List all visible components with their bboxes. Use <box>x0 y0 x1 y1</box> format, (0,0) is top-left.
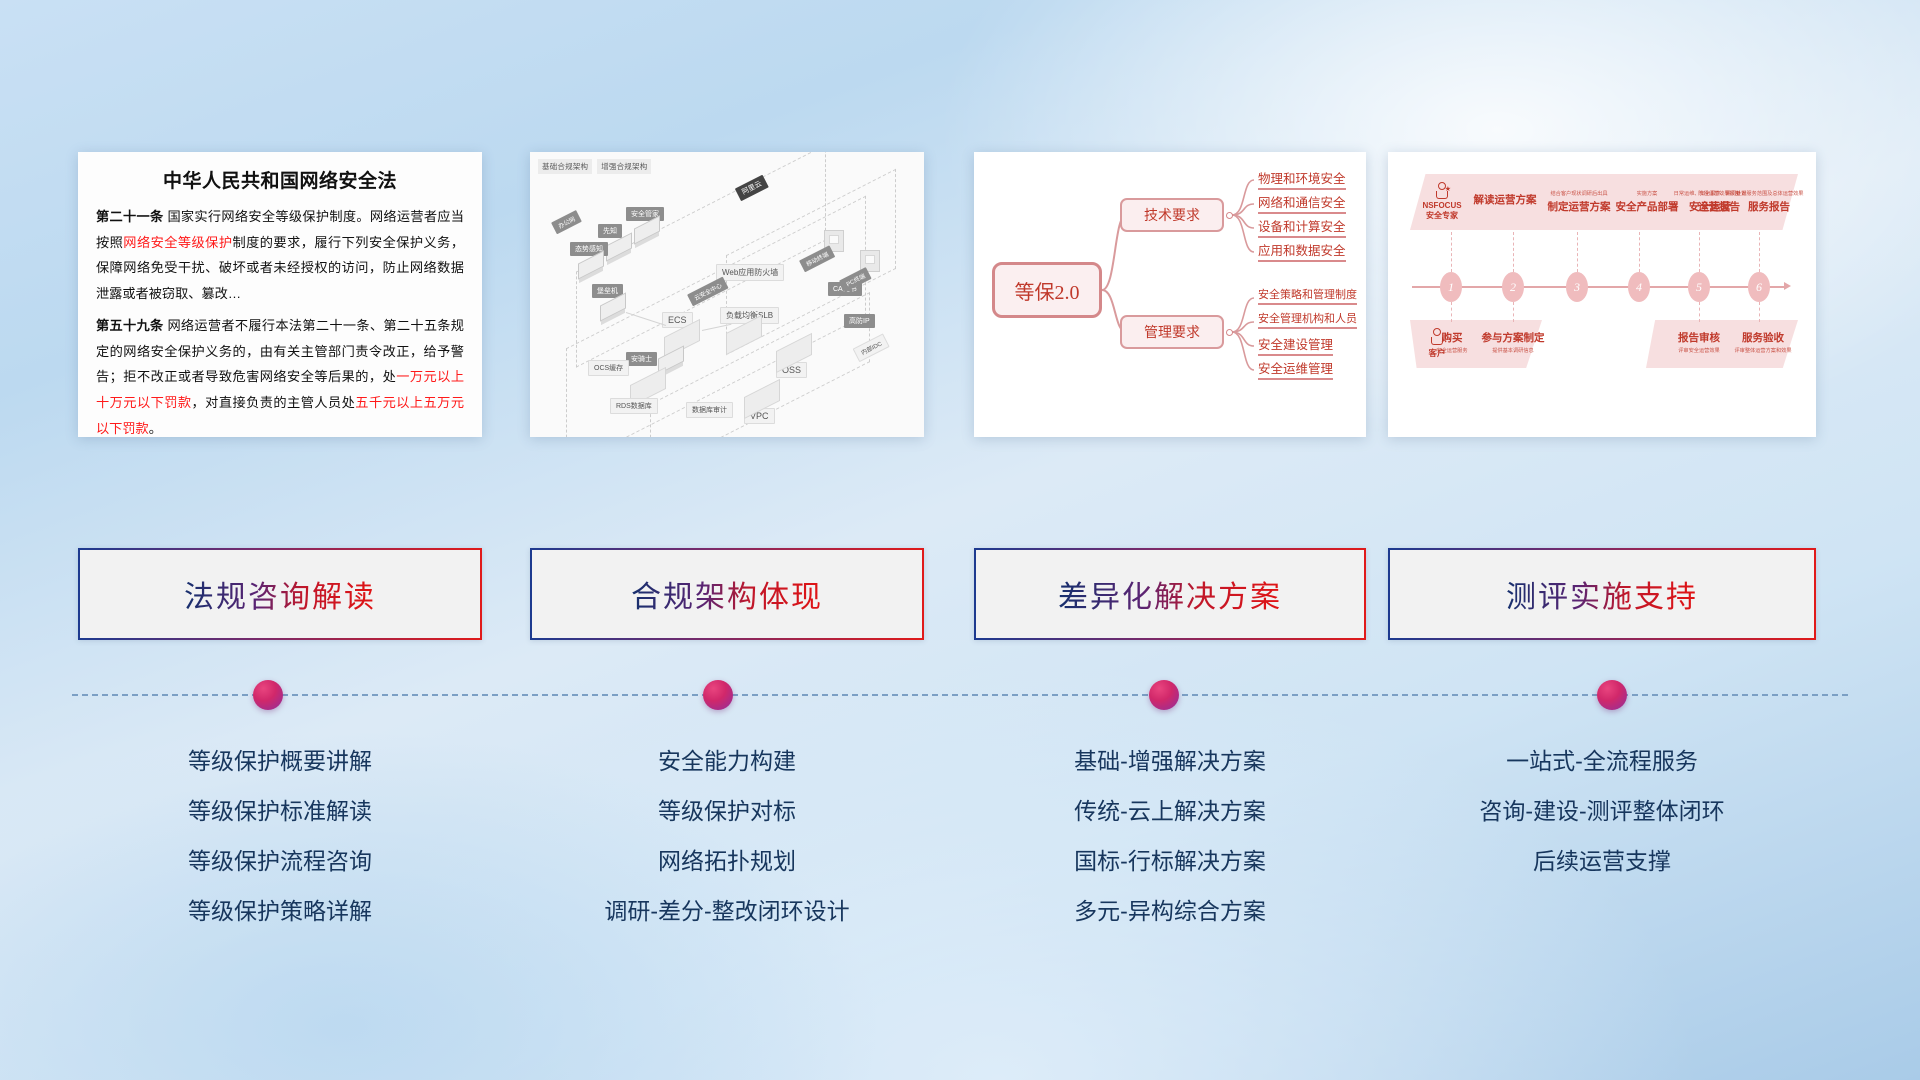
banner-regulation-consulting[interactable]: 法规咨询解读 <box>78 548 482 640</box>
banner-compliance-architecture-label: 合规架构体现 <box>631 572 823 616</box>
timeline-node-5[interactable]: 5 <box>1688 272 1710 302</box>
list-item: 基础-增强解决方案 <box>974 736 1366 786</box>
timeline-customer-step-4-title: 服务验收 <box>1728 330 1798 345</box>
bullet-column-3: 基础-增强解决方案 传统-云上解决方案 国标-行标解决方案 多元-异构综合方案 <box>974 736 1366 936</box>
mindmap-canvas: 等保2.0 技术要求 管理要求 物理和环境安全 网络和通信安全 设备和计算安全 … <box>974 152 1366 437</box>
law-article-21: 第二十一条 国家实行网络安全等级保护制度。网络运营者应当按照网络安全等级保护制度… <box>96 204 464 307</box>
node-waf: Web应用防火墙 <box>716 264 784 281</box>
node-rds: RDS数据库 <box>610 398 658 414</box>
banner-evaluation-support[interactable]: 测评实施支持 <box>1388 548 1816 640</box>
timeline-connector-c1 <box>1451 302 1452 322</box>
timeline-connector-c2 <box>1513 302 1514 322</box>
timeline-connector-3 <box>1577 232 1578 272</box>
actor-nsfocus-expert: ★ NSFOCUS 安全专家 <box>1418 182 1466 221</box>
timeline-connector-5 <box>1699 232 1700 272</box>
law-article-21-highlight: 网络安全等级保护 <box>123 235 232 250</box>
slide-root: 中华人民共和国网络安全法 第二十一条 国家实行网络安全等级保护制度。网络运营者应… <box>0 0 1920 1080</box>
mindmap-leaf-ops-mgmt: 安全运维管理 <box>1258 358 1333 380</box>
timeline-step-1-title: 解读运营方案 <box>1466 192 1544 207</box>
mindmap-leaf-construction-mgmt: 安全建设管理 <box>1258 334 1333 356</box>
timeline-customer-step-4-sub: 评审整体运营方案和效果 <box>1728 347 1798 354</box>
timeline-customer-step-1: 购买 安全运营服务 <box>1430 330 1474 354</box>
banner-differentiated-solution-label: 差异化解决方案 <box>1058 572 1282 616</box>
expert-label-brand: NSFOCUS <box>1418 201 1466 210</box>
timeline-node-6[interactable]: 6 <box>1748 272 1770 302</box>
mindmap-leaf-app-data: 应用和数据安全 <box>1258 240 1346 262</box>
timeline-node-3[interactable]: 3 <box>1566 272 1588 302</box>
law-article-59-label: 第五十九条 <box>96 318 163 333</box>
list-item: 等级保护流程咨询 <box>78 836 482 886</box>
expert-label-role: 安全专家 <box>1418 210 1466 221</box>
bullet-column-2: 安全能力构建 等级保护对标 网络拓扑规划 调研-差分-整改闭环设计 <box>530 736 924 936</box>
node-xianzhi: 先知 <box>598 224 622 238</box>
banner-evaluation-support-label: 测评实施支持 <box>1506 572 1698 616</box>
card-architecture-diagram: 基础合规架构 增强合规架构 阿里云 安全管家 先知 态势感知 堡垒机 ECS <box>530 152 924 437</box>
list-item: 咨询-建设-测评整体闭环 <box>1388 786 1816 836</box>
timeline-customer-step-3-title: 报告审核 <box>1666 330 1732 345</box>
mindmap-dot-technical[interactable] <box>1226 212 1233 219</box>
timeline-customer-step-3: 报告审核 评审安全运营效果 <box>1666 330 1732 354</box>
node-office-network: 办公网 <box>551 210 582 234</box>
timeline-node-2[interactable]: 2 <box>1502 272 1524 302</box>
timeline-step-6-sub: 针对服务范围及总体运营效果 <box>1736 190 1802 197</box>
node-anqishi: 安骑士 <box>626 352 657 366</box>
banner-regulation-consulting-label: 法规咨询解读 <box>184 572 376 616</box>
list-item: 等级保护对标 <box>530 786 924 836</box>
mindmap-leaf-policy-system: 安全策略和管理制度 <box>1258 286 1357 305</box>
timeline-customer-step-3-sub: 评审安全运营效果 <box>1666 347 1732 354</box>
list-item: 后续运营支撑 <box>1388 836 1816 886</box>
timeline-connector-1 <box>1451 232 1452 272</box>
mindmap-leaf-physical-env: 物理和环境安全 <box>1258 168 1346 190</box>
list-item: 等级保护标准解读 <box>78 786 482 836</box>
tab-basic-compliance[interactable]: 基础合规架构 <box>538 159 592 174</box>
timeline-connector-6 <box>1759 232 1760 272</box>
timeline-node-1[interactable]: 1 <box>1440 272 1462 302</box>
timeline-node-4[interactable]: 4 <box>1628 272 1650 302</box>
list-item: 调研-差分-整改闭环设计 <box>530 886 924 936</box>
list-item: 传统-云上解决方案 <box>974 786 1366 836</box>
card-law-text: 中华人民共和国网络安全法 第二十一条 国家实行网络安全等级保护制度。网络运营者应… <box>78 152 482 437</box>
rail-dot-3[interactable] <box>1149 680 1179 710</box>
timeline-step-6-title: 服务报告 <box>1736 199 1802 214</box>
architecture-canvas: 基础合规架构 增强合规架构 阿里云 安全管家 先知 态势感知 堡垒机 ECS <box>530 152 924 437</box>
rail-dot-1[interactable] <box>253 680 283 710</box>
mindmap-branch-management: 管理要求 <box>1120 315 1224 349</box>
timeline-connector-c3 <box>1699 302 1700 322</box>
node-anti-ddos-ip: 高防IP <box>844 314 875 328</box>
timeline-axis <box>1412 286 1786 288</box>
timeline-connector-c4 <box>1759 302 1760 322</box>
banner-compliance-architecture[interactable]: 合规架构体现 <box>530 548 924 640</box>
law-article-59-text-b: ，对直接负责的主管人员处 <box>192 395 356 410</box>
law-article-59: 第五十九条 网络运营者不履行本法第二十一条、第二十五条规定的网络安全保护义务的，… <box>96 313 464 437</box>
mindmap-leaf-network-comm: 网络和通信安全 <box>1258 192 1346 214</box>
architecture-tab-group: 基础合规架构 增强合规架构 <box>538 159 651 174</box>
banner-differentiated-solution[interactable]: 差异化解决方案 <box>974 548 1366 640</box>
expert-person-icon: ★ <box>1434 182 1450 200</box>
timeline-axis-arrow-icon <box>1784 282 1791 290</box>
node-ocs-cache: OCS缓存 <box>588 360 629 376</box>
list-item: 一站式-全流程服务 <box>1388 736 1816 786</box>
list-item: 等级保护策略详解 <box>78 886 482 936</box>
timeline-customer-step-4: 服务验收 评审整体运营方案和效果 <box>1728 330 1798 354</box>
timeline-customer-step-2: 参与方案制定 提供基本调研信息 <box>1476 330 1550 354</box>
list-item: 网络拓扑规划 <box>530 836 924 886</box>
mindmap-branch-technical: 技术要求 <box>1120 198 1224 232</box>
mindmap-leaf-device-compute: 设备和计算安全 <box>1258 216 1346 238</box>
list-item: 多元-异构综合方案 <box>974 886 1366 936</box>
image-card-row: 中华人民共和国网络安全法 第二十一条 国家实行网络安全等级保护制度。网络运营者应… <box>0 152 1920 442</box>
timeline-rail <box>72 694 1848 696</box>
card-mindmap: 等保2.0 技术要求 管理要求 物理和环境安全 网络和通信安全 设备和计算安全 … <box>974 152 1366 437</box>
law-title: 中华人民共和国网络安全法 <box>96 166 464 193</box>
list-item: 等级保护概要讲解 <box>78 736 482 786</box>
law-article-59-text-c: 。 <box>149 421 162 436</box>
bullet-column-1: 等级保护概要讲解 等级保护标准解读 等级保护流程咨询 等级保护策略详解 <box>78 736 482 936</box>
timeline-step-6: 针对服务范围及总体运营效果 服务报告 <box>1736 190 1802 214</box>
law-document: 中华人民共和国网络安全法 第二十一条 国家实行网络安全等级保护制度。网络运营者应… <box>78 152 482 437</box>
law-article-21-label: 第二十一条 <box>96 209 163 224</box>
bullet-column-4: 一站式-全流程服务 咨询-建设-测评整体闭环 后续运营支撑 <box>1388 736 1816 886</box>
rail-dot-4[interactable] <box>1597 680 1627 710</box>
rail-dot-2[interactable] <box>703 680 733 710</box>
node-db-audit: 数据库审计 <box>686 402 733 418</box>
timeline-customer-step-1-title: 购买 <box>1430 330 1474 345</box>
banner-row: 法规咨询解读 合规架构体现 差异化解决方案 测评实施支持 <box>0 548 1920 640</box>
list-item: 安全能力构建 <box>530 736 924 786</box>
timeline-customer-step-2-sub: 提供基本调研信息 <box>1476 347 1550 354</box>
timeline-canvas: ★ NSFOCUS 安全专家 客户 解读运营方案 结合客 <box>1388 152 1816 437</box>
mindmap-root-node: 等保2.0 <box>992 262 1102 318</box>
timeline-customer-step-1-sub: 安全运营服务 <box>1430 347 1474 354</box>
mindmap-leaf-org-personnel: 安全管理机构和人员 <box>1258 310 1357 329</box>
timeline-customer-step-2-title: 参与方案制定 <box>1476 330 1550 345</box>
card-service-timeline: ★ NSFOCUS 安全专家 客户 解读运营方案 结合客 <box>1388 152 1816 437</box>
list-item: 国标-行标解决方案 <box>974 836 1366 886</box>
timeline-step-1: 解读运营方案 <box>1466 190 1544 207</box>
tab-enhanced-compliance[interactable]: 增强合规架构 <box>597 159 651 174</box>
mindmap-dot-management[interactable] <box>1226 329 1233 336</box>
timeline-connector-2 <box>1513 232 1514 272</box>
timeline-connector-4 <box>1639 232 1640 272</box>
